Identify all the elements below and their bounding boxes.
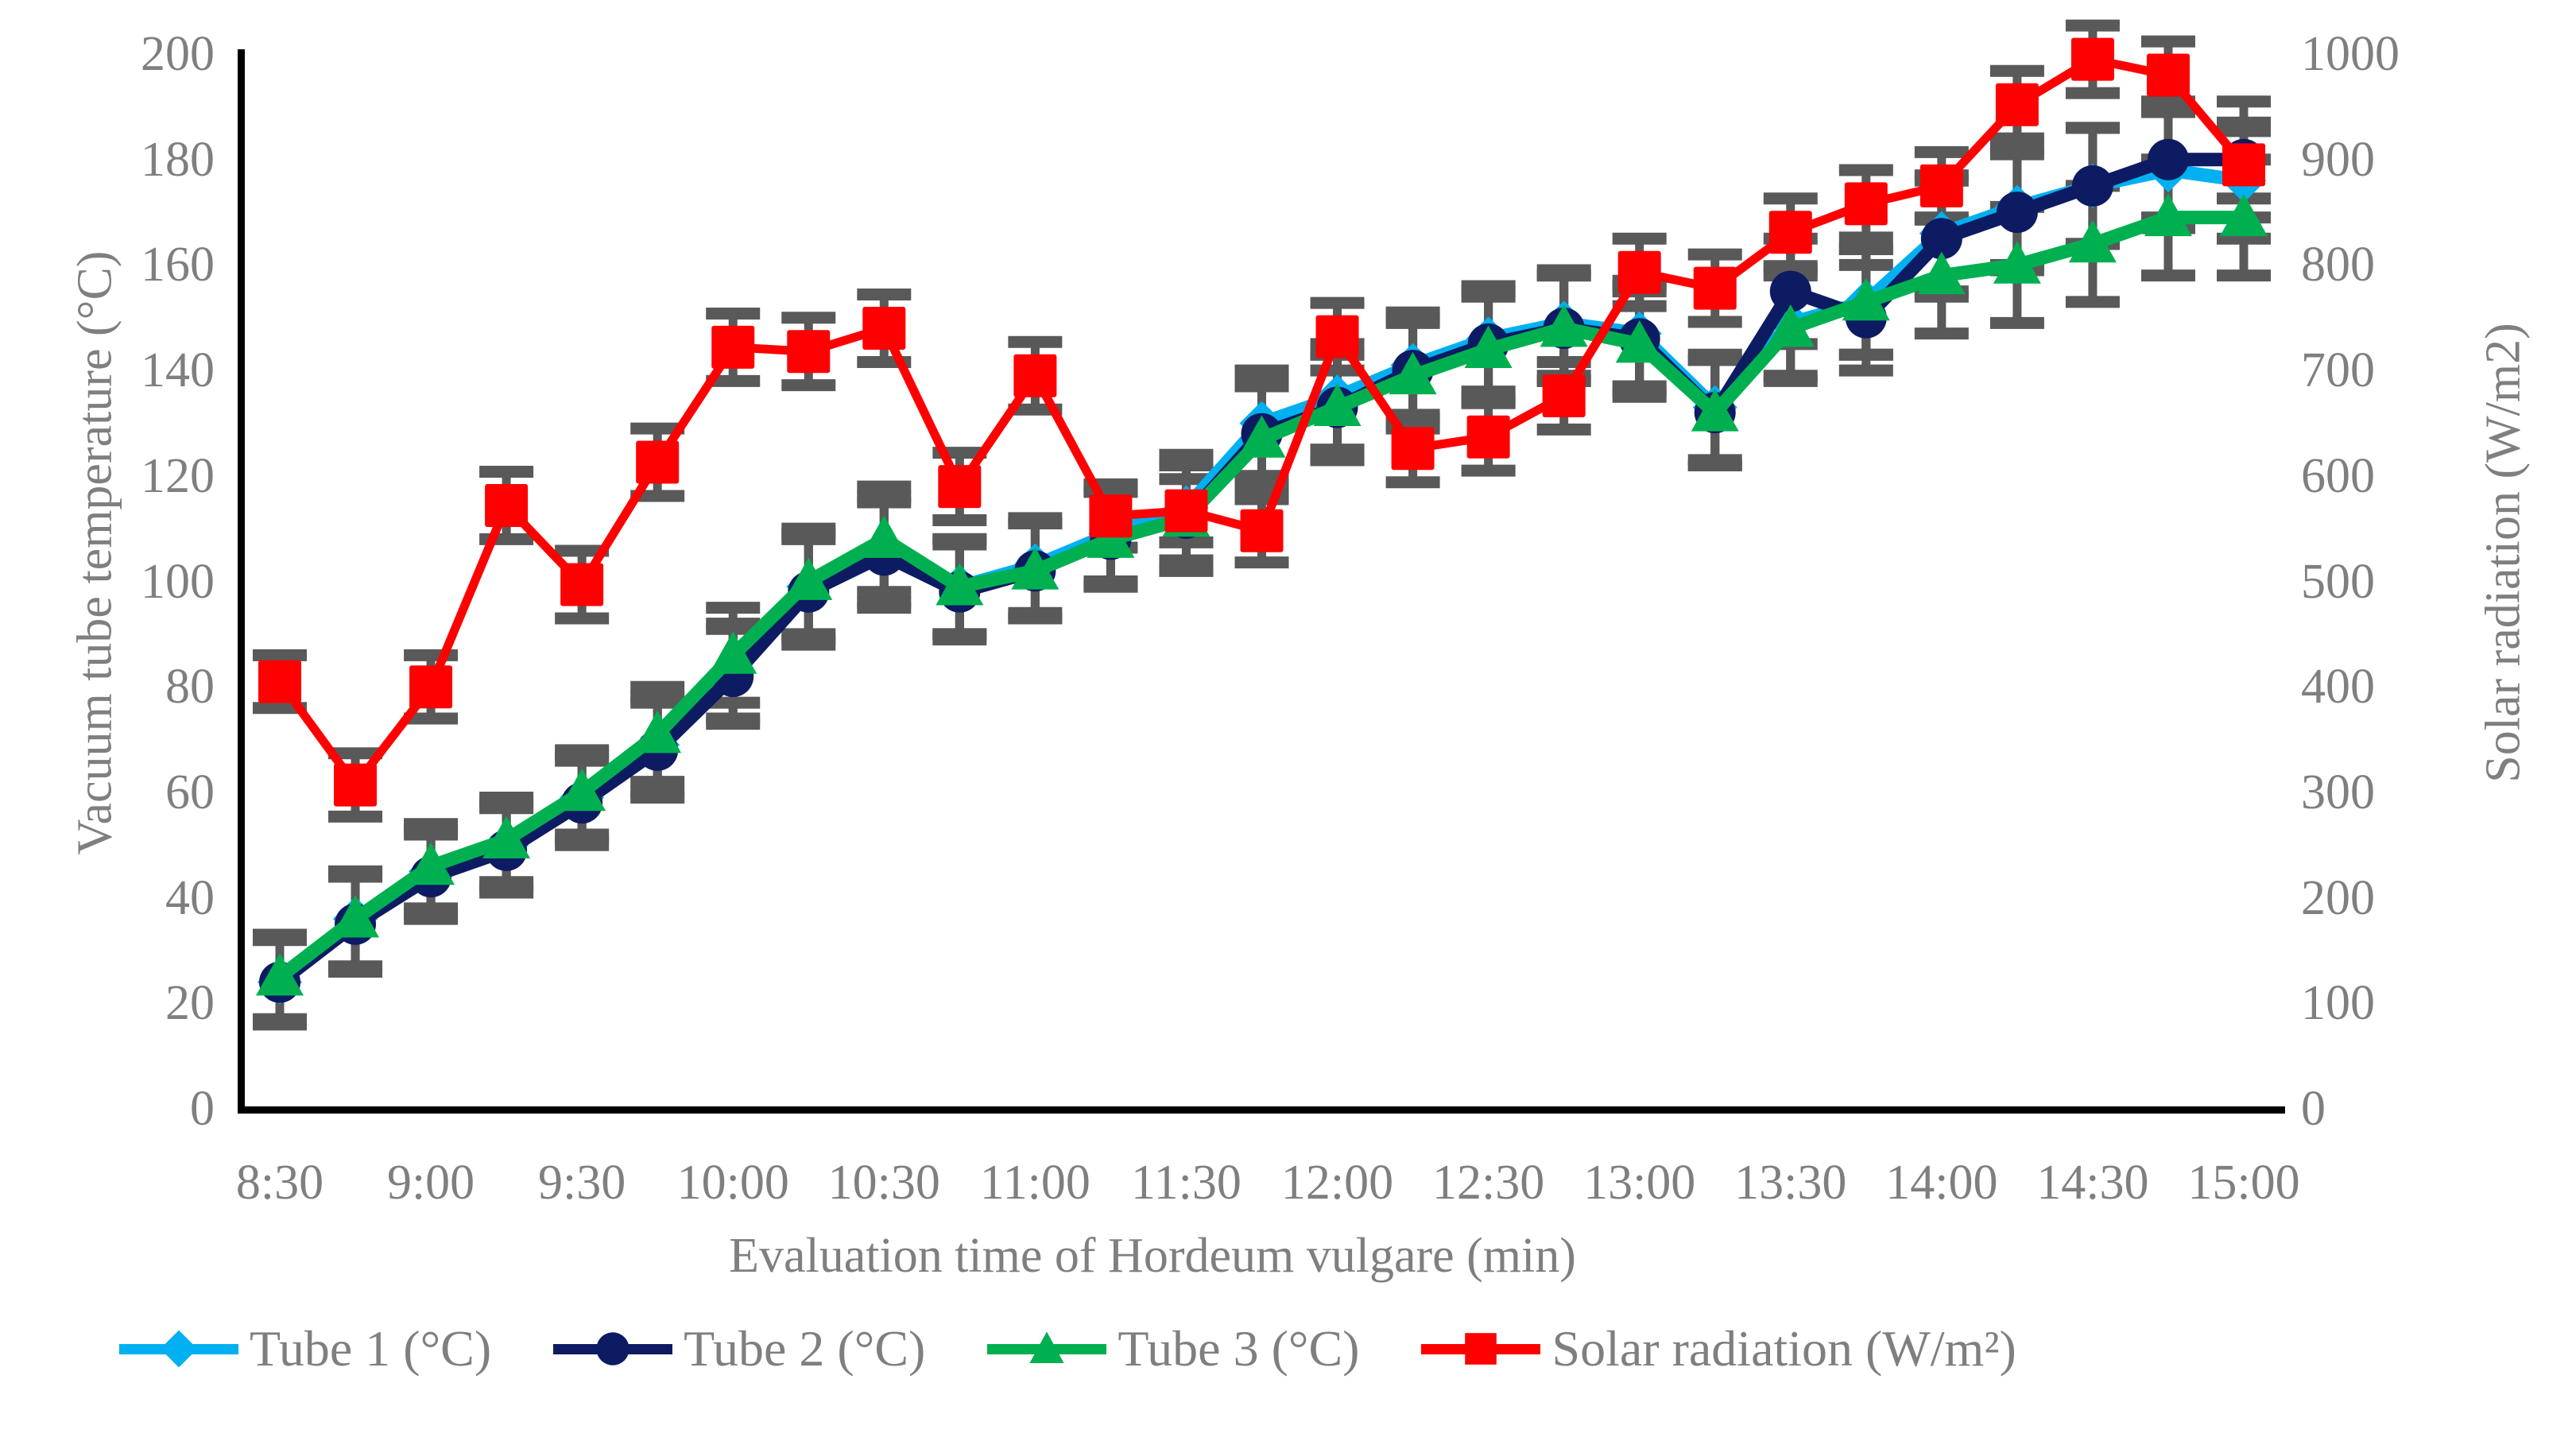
data-point bbox=[560, 563, 603, 606]
data-point bbox=[711, 326, 754, 369]
legend-marker-icon bbox=[1458, 1327, 1504, 1370]
data-point bbox=[1164, 490, 1207, 533]
chart-figure: Vacuum tube temperature (°C) Solar radia… bbox=[0, 0, 2576, 1445]
data-point bbox=[1543, 374, 1586, 417]
y-axis-left-tick-label: 0 bbox=[32, 1081, 215, 1137]
data-point bbox=[860, 515, 908, 557]
data-point bbox=[2071, 38, 2114, 81]
data-point bbox=[409, 665, 452, 708]
data-point bbox=[2147, 54, 2190, 97]
legend-marker-icon bbox=[590, 1327, 636, 1370]
y-axis-left-tick-label: 180 bbox=[32, 132, 215, 188]
legend-label: Solar radiation (W/m²) bbox=[1551, 1323, 2016, 1374]
y-axis-right-tick-label: 1000 bbox=[2301, 26, 2484, 82]
y-axis-right-title: Solar radiation (W/m2) bbox=[2476, 196, 2532, 911]
legend-marker-icon bbox=[1024, 1327, 1070, 1370]
y-axis-left-tick-label: 20 bbox=[32, 975, 215, 1031]
legend-marker-icon bbox=[156, 1327, 202, 1370]
y-axis-left-tick-label: 160 bbox=[32, 237, 215, 292]
data-point bbox=[1769, 211, 1812, 254]
data-point bbox=[1089, 494, 1132, 537]
y-axis-left-tick-label: 140 bbox=[32, 343, 215, 398]
y-axis-right-tick-label: 300 bbox=[2301, 765, 2484, 820]
legend-swatch-triangle-icon bbox=[987, 1327, 1106, 1370]
y-axis-left-tick-label: 100 bbox=[32, 554, 215, 610]
y-axis-left-tick-label: 60 bbox=[32, 765, 215, 820]
chart-legend: Tube 1 (°C)Tube 2 (°C)Tube 3 (°C)Solar r… bbox=[119, 1323, 2504, 1374]
data-point bbox=[1467, 416, 1510, 459]
data-point bbox=[1920, 165, 1963, 207]
y-axis-right-tick-label: 900 bbox=[2301, 132, 2484, 188]
data-point bbox=[1013, 354, 1056, 397]
data-point bbox=[1241, 509, 1284, 552]
data-point bbox=[258, 661, 301, 703]
legend-label: Tube 1 (°C) bbox=[250, 1323, 491, 1374]
data-point bbox=[938, 465, 981, 508]
plot-area bbox=[242, 54, 2284, 1109]
x-axis-tick-label: 15:00 bbox=[2148, 1151, 2339, 1214]
y-axis-right-tick-label: 0 bbox=[2301, 1081, 2484, 1137]
legend-item[interactable]: Tube 2 (°C) bbox=[553, 1323, 925, 1374]
y-axis-left-tick-label: 120 bbox=[32, 448, 215, 504]
y-axis-right-tick-label: 100 bbox=[2301, 975, 2484, 1031]
data-point bbox=[1997, 192, 2038, 233]
y-axis-right-tick-label: 500 bbox=[2301, 554, 2484, 610]
legend-swatch-square-icon bbox=[1421, 1327, 1540, 1370]
data-point bbox=[1316, 316, 1359, 358]
data-point bbox=[485, 484, 528, 527]
data-point bbox=[1996, 83, 2039, 126]
data-point bbox=[636, 441, 679, 484]
y-axis-right-tick-label: 600 bbox=[2301, 448, 2484, 504]
chart-canvas bbox=[242, 54, 2284, 1109]
legend-swatch-circle-icon bbox=[553, 1327, 672, 1370]
data-point bbox=[2148, 139, 2189, 180]
legend-label: Tube 2 (°C) bbox=[684, 1323, 925, 1374]
data-point bbox=[2222, 143, 2265, 186]
data-point bbox=[334, 764, 377, 807]
y-axis-right-tick-label: 400 bbox=[2301, 659, 2484, 715]
y-axis-left-tick-label: 40 bbox=[32, 870, 215, 926]
legend-swatch-diamond-icon bbox=[119, 1327, 238, 1370]
data-point bbox=[1392, 427, 1435, 470]
data-point bbox=[1694, 267, 1737, 310]
data-point bbox=[787, 330, 830, 373]
y-axis-right-tick-label: 800 bbox=[2301, 237, 2484, 292]
y-axis-right-tick-label: 200 bbox=[2301, 870, 2484, 926]
y-axis-left-tick-label: 80 bbox=[32, 659, 215, 715]
data-point bbox=[1618, 251, 1661, 294]
legend-label: Tube 3 (°C) bbox=[1118, 1323, 1359, 1374]
legend-item[interactable]: Tube 1 (°C) bbox=[119, 1323, 491, 1374]
data-point bbox=[1845, 182, 1888, 225]
legend-item[interactable]: Tube 3 (°C) bbox=[987, 1323, 1359, 1374]
legend-item[interactable]: Solar radiation (W/m²) bbox=[1421, 1323, 2016, 1374]
x-axis-title: Evaluation time of Hordeum vulgare (min) bbox=[0, 1228, 2305, 1284]
y-axis-right-tick-label: 700 bbox=[2301, 343, 2484, 398]
data-point bbox=[862, 307, 905, 350]
data-point bbox=[2072, 165, 2113, 207]
y-axis-left-tick-label: 200 bbox=[32, 26, 215, 82]
